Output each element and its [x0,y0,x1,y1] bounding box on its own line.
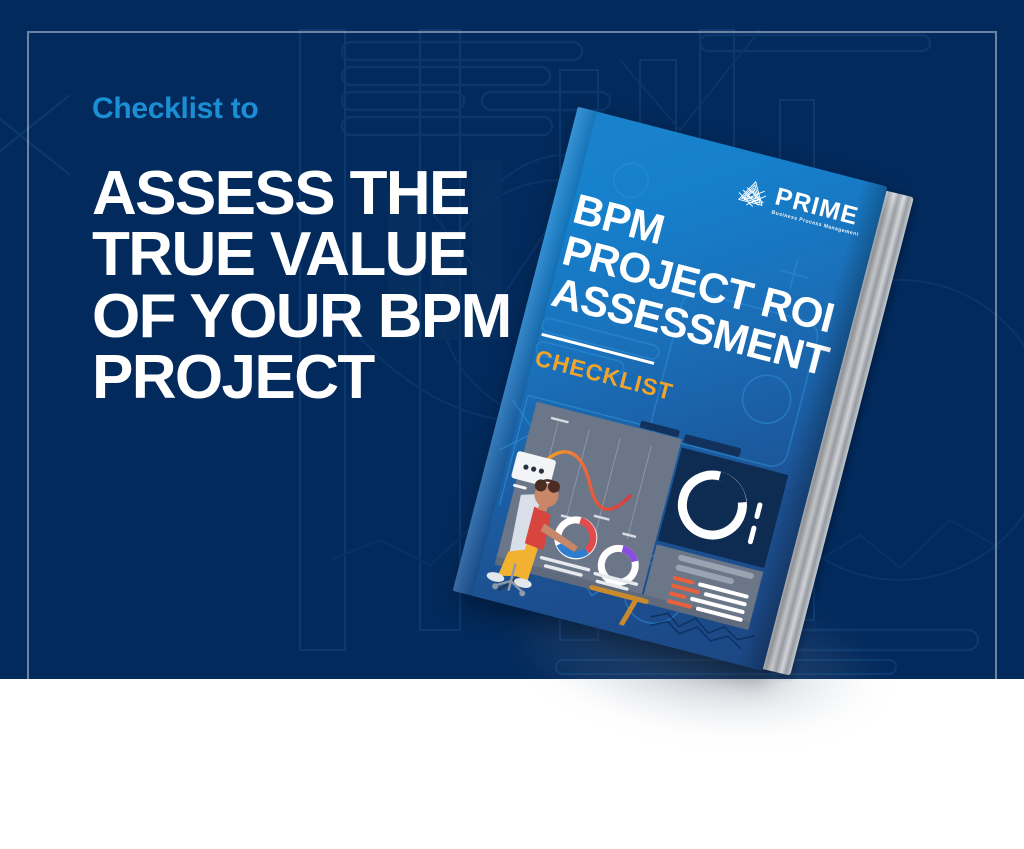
poster-canvas: Checklist to ASSESS THE TRUE VALUE OF YO… [0,0,1024,849]
book-front-cover: PRIME Business Process Management BPM PR… [453,107,888,671]
book: PRIME Business Process Management BPM PR… [453,107,898,674]
cover-content: PRIME Business Process Management BPM PR… [453,107,888,671]
prime-logo-text: PRIME Business Process Management [771,184,866,238]
book-mockup: PRIME Business Process Management BPM PR… [470,120,940,820]
prime-logo-icon [732,173,773,214]
prime-logo: PRIME Business Process Management [732,173,866,238]
